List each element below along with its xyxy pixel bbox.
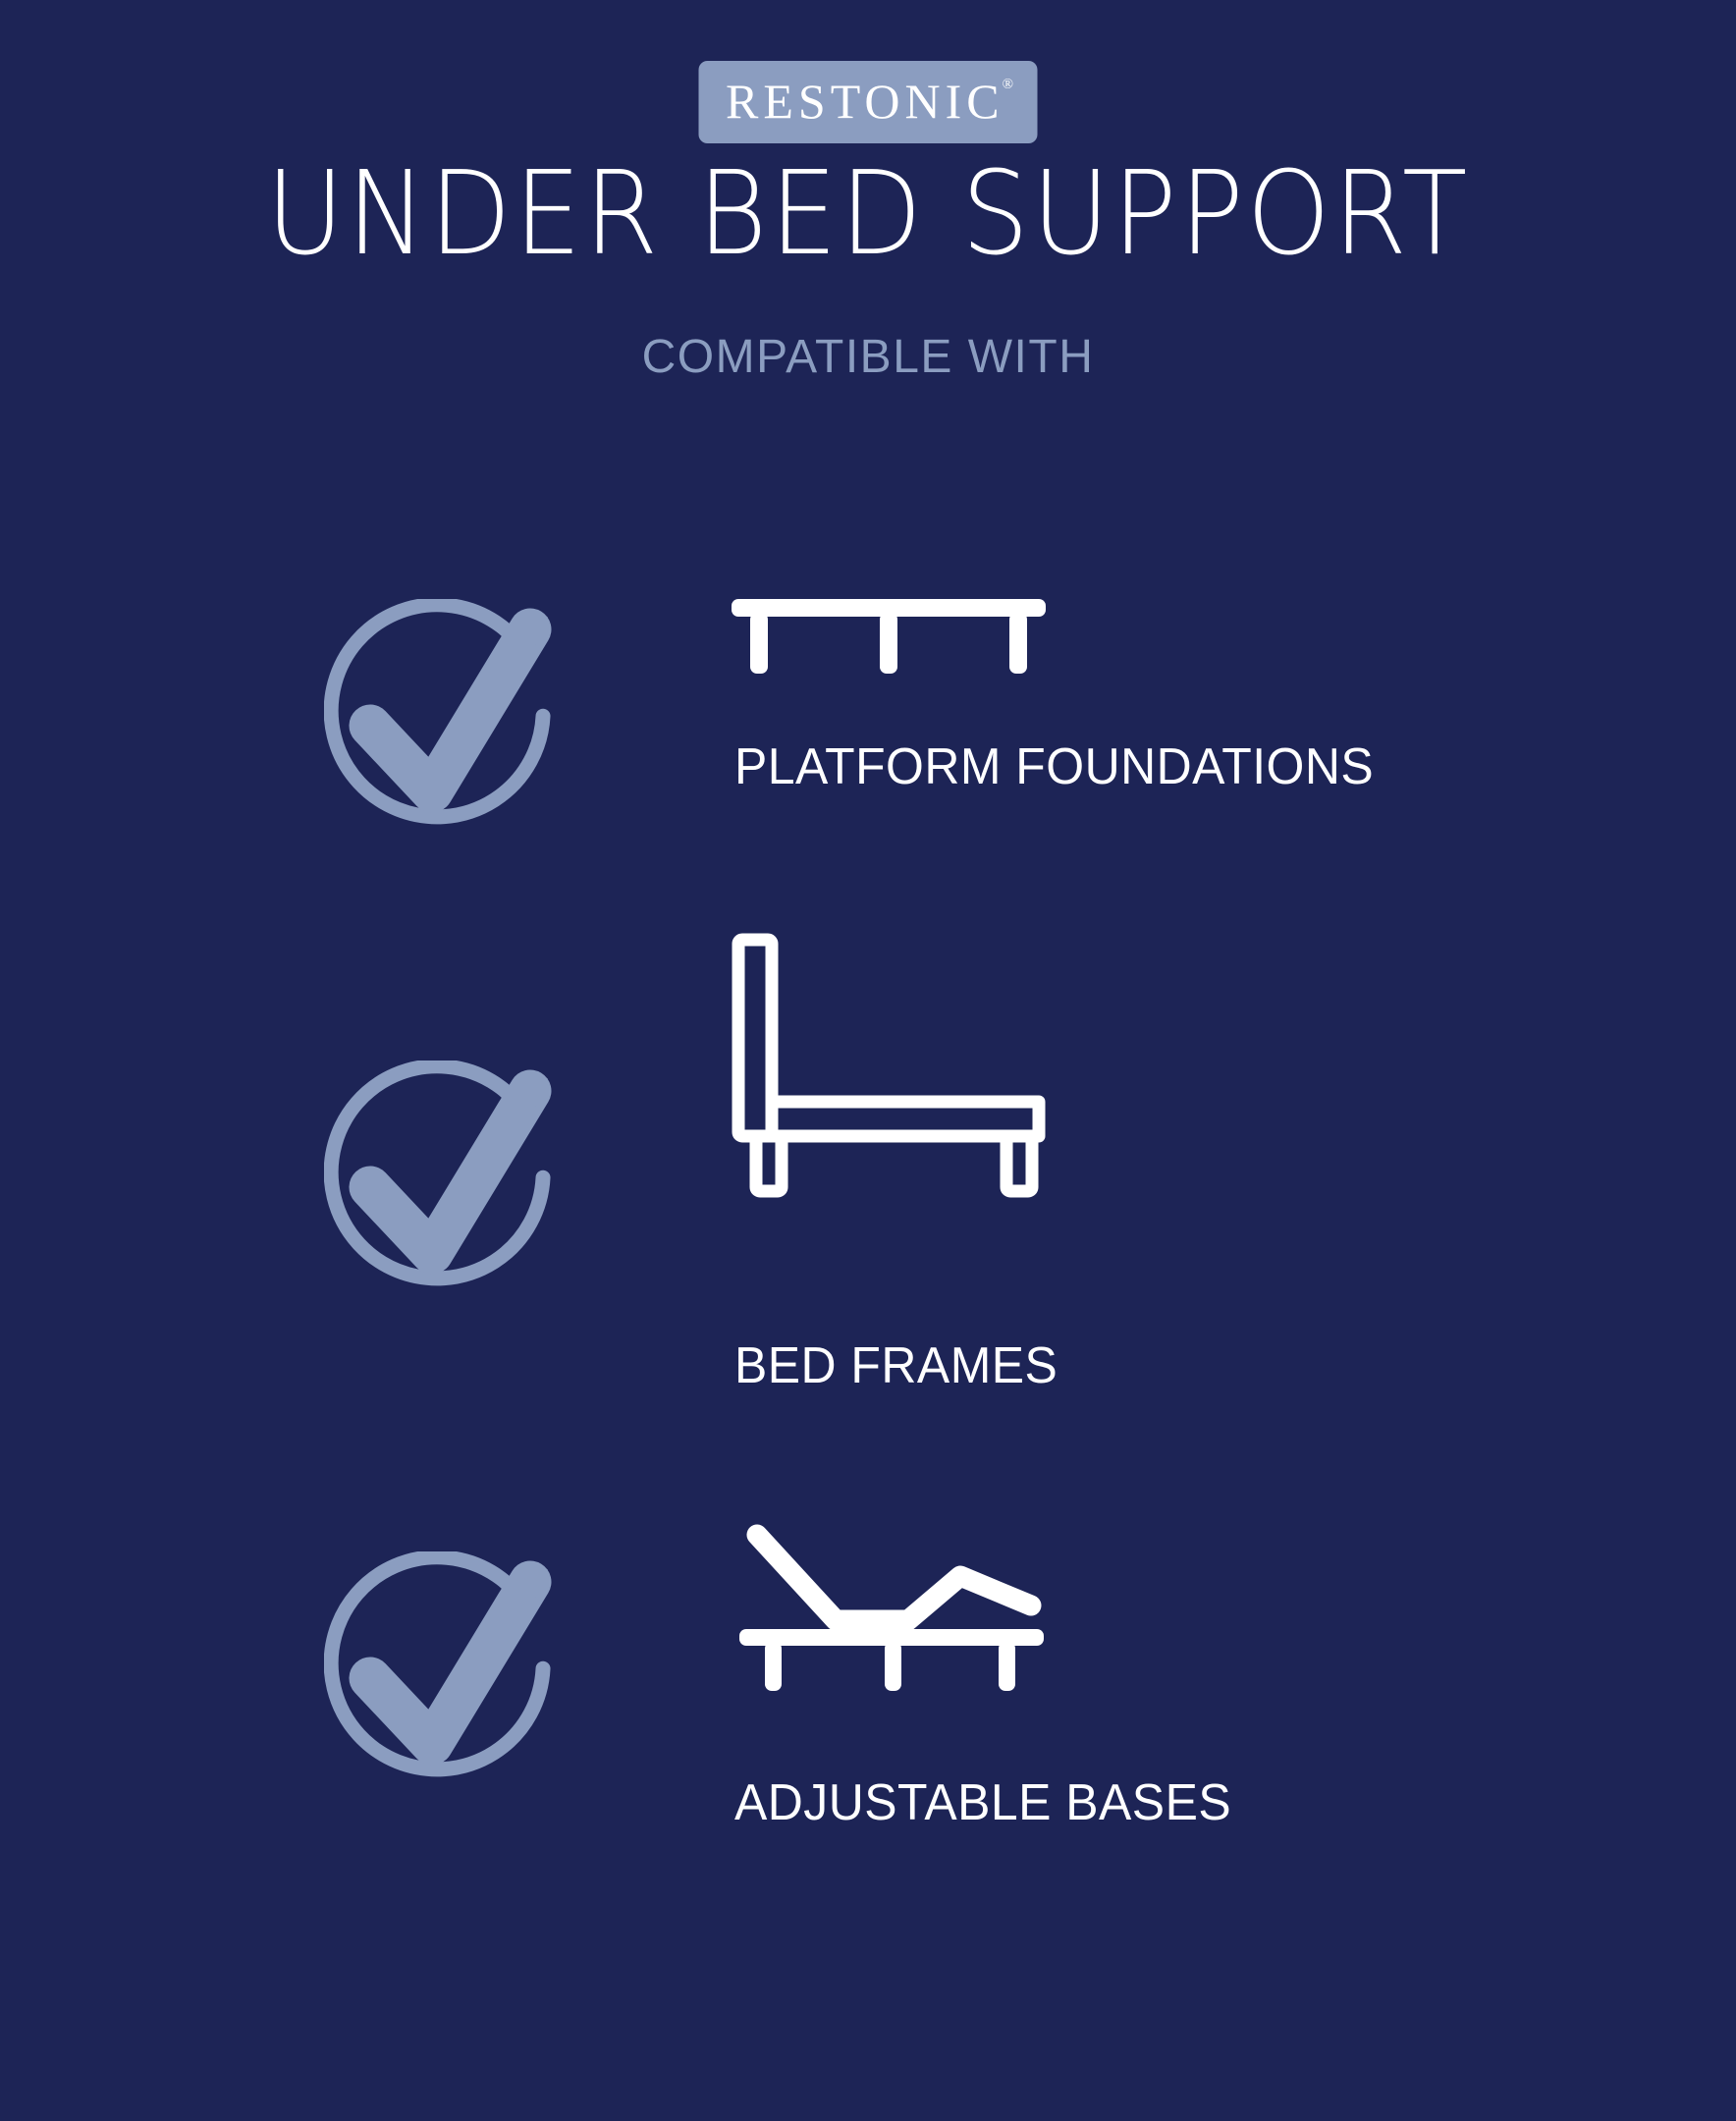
list-item: BED FRAMES — [0, 948, 1736, 1242]
platform-foundation-icon — [732, 599, 1046, 692]
list-item-label: ADJUSTABLE BASES — [734, 1777, 1231, 1828]
list-item-label: BED FRAMES — [734, 1340, 1058, 1391]
list-item: ADJUSTABLE BASES — [0, 1517, 1736, 1812]
check-circle-icon — [324, 599, 579, 854]
list-item: PLATFORM FOUNDATIONS — [0, 579, 1736, 874]
list-item-label: PLATFORM FOUNDATIONS — [734, 741, 1374, 792]
adjustable-base-icon — [732, 1517, 1056, 1704]
compatibility-list: PLATFORM FOUNDATIONS — [0, 0, 1736, 2121]
check-circle-icon — [324, 1060, 579, 1316]
check-circle-icon — [324, 1551, 579, 1807]
bed-frame-icon — [732, 933, 1046, 1203]
